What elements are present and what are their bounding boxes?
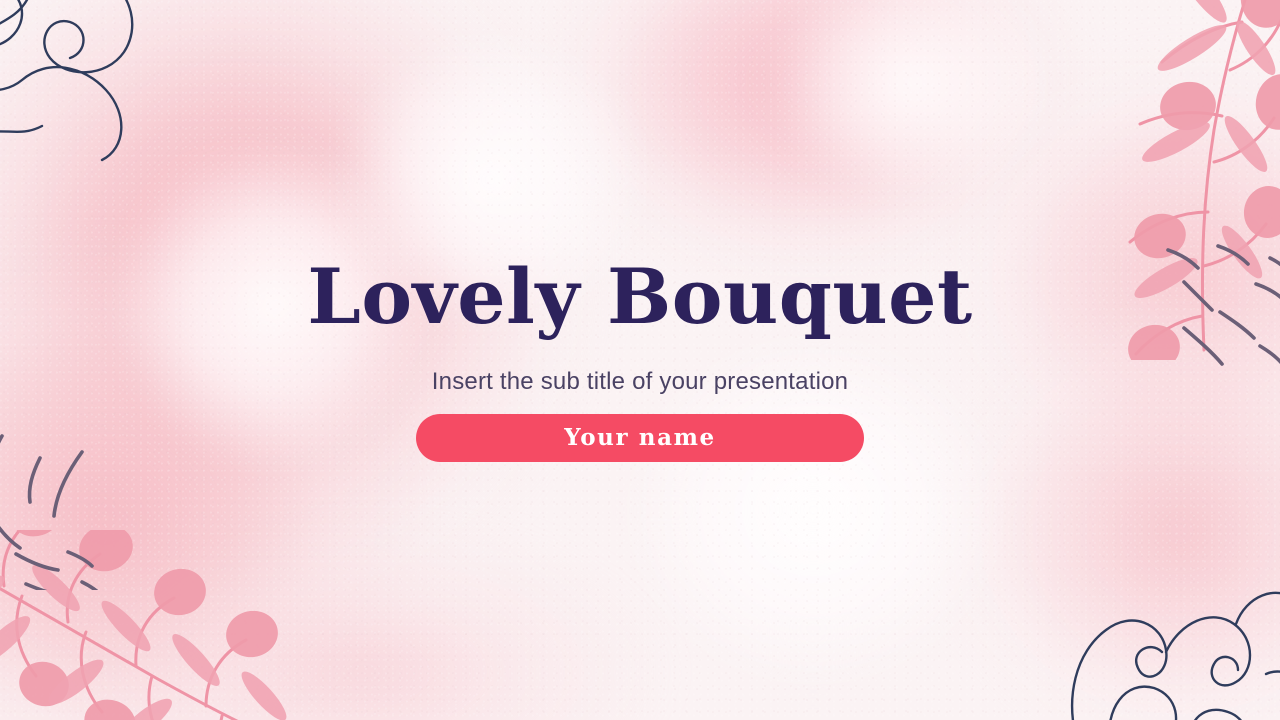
presentation-slide: Lovely Bouquet Insert the sub title of y… xyxy=(0,0,1280,720)
your-name-button[interactable]: Your name xyxy=(416,414,864,462)
slide-content: Lovely Bouquet Insert the sub title of y… xyxy=(0,258,1280,462)
page-title: Lovely Bouquet xyxy=(307,258,972,336)
slide-subtitle: Insert the sub title of your presentatio… xyxy=(432,368,848,396)
